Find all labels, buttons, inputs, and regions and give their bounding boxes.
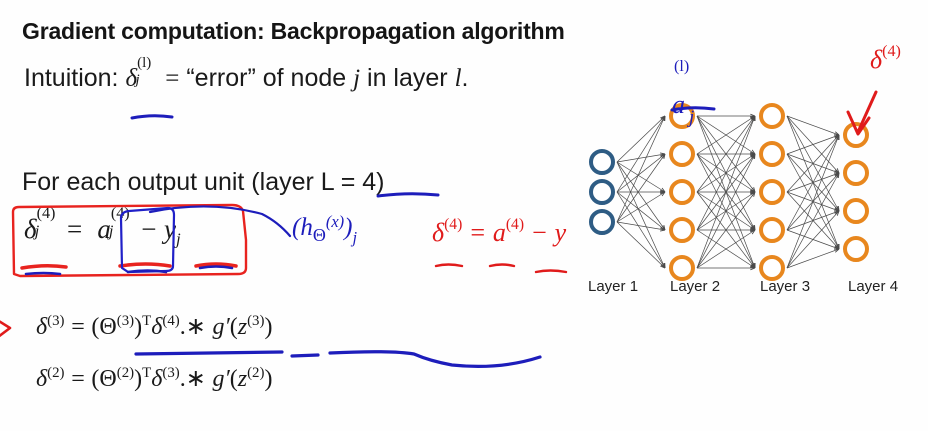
boxed-minus: − (141, 214, 156, 244)
blue-underline-gprime (330, 352, 540, 367)
equation-delta-3: δ(3) = (Θ(3))Tδ(4).∗ g′(z(3)) (36, 312, 272, 341)
delta2-equals: = (71, 366, 85, 392)
delta-superscript: (4) (37, 204, 56, 223)
delta2-lhs: δ(2) (36, 366, 65, 392)
red-underline-y (196, 264, 236, 266)
network-node-l3-n3 (759, 179, 785, 205)
equals-sign: = (469, 218, 487, 247)
network-node-l1-n2 (589, 179, 615, 205)
network-node-l2-n2 (669, 141, 695, 167)
delta-superscript: (2) (47, 365, 64, 381)
layer-label-2: Layer 2 (670, 278, 720, 295)
y-subscript: j (176, 229, 181, 248)
boxed-equation: δ (4) j = a (4) j − yj (24, 214, 181, 249)
delta-superscript: (4) (162, 313, 179, 329)
annotation-h-theta: (hΘ(x))j (292, 214, 357, 242)
red-underline-activation (120, 264, 170, 266)
delta-base: δ (36, 366, 47, 392)
transpose-symbol: T (142, 313, 151, 329)
z-open-paren: ( (230, 314, 238, 340)
delta-base: δ (151, 314, 162, 340)
theta-base: Θ (99, 366, 116, 392)
a-base: a (672, 90, 685, 119)
delta3-close-paren: ) (134, 314, 142, 340)
intuition-quoted-text: “error” of node (186, 64, 346, 92)
delta-base: δ (432, 218, 444, 247)
y-base: y (164, 214, 176, 244)
intuition-in-layer: in layer (367, 64, 448, 92)
delta-superscript: (l) (137, 55, 151, 72)
activation-subscript: j (109, 222, 114, 241)
annotation-a-j-l: (l)aj (672, 60, 690, 120)
layer-label-3: Layer 3 (760, 278, 810, 295)
network-node-l4-n2 (843, 160, 869, 186)
h-symbol: h (300, 214, 313, 241)
network-node-l3-n2 (759, 141, 785, 167)
network-edges (584, 108, 924, 298)
delta-superscript: (3) (47, 313, 64, 329)
network-node-l2-n3 (669, 179, 695, 205)
blue-underline-theta3 (136, 352, 282, 354)
minus-sign: − (531, 218, 549, 247)
z-base: z (238, 314, 247, 340)
page-title: Gradient computation: Backpropagation al… (22, 18, 565, 45)
network-node-l3-n4 (759, 217, 785, 243)
elementwise-operator: .∗ (180, 314, 206, 340)
a-superscript: (l) (674, 58, 689, 75)
z-superscript: (3) (247, 313, 264, 329)
delta3-equals: = (71, 314, 85, 340)
z-base: z (238, 366, 247, 392)
delta-subscript: j (135, 72, 139, 89)
blue-tick-delta (26, 273, 60, 274)
theta-symbol: Θ (313, 225, 326, 245)
intuition-prefix: Intuition: (24, 64, 119, 92)
intuition-node-var: j (353, 65, 360, 92)
delta-base: δ (36, 314, 47, 340)
red-underline-hand-a (490, 265, 514, 267)
g-prime: g′ (213, 314, 230, 340)
boxed-activation-term: a (4) j (97, 214, 111, 245)
boxed-equals: = (67, 214, 82, 244)
z-open-paren: ( (230, 366, 238, 392)
z-superscript: (2) (247, 365, 264, 381)
blue-underline-intuition-delta (132, 116, 172, 118)
boxed-target-y: yj (164, 214, 181, 244)
theta-superscript: (2) (117, 365, 134, 381)
intuition-delta-symbol: δ (l) j (125, 64, 137, 93)
blue-underline-L4 (378, 194, 438, 196)
red-underline-hand-delta (436, 265, 462, 267)
red-underline-delta (22, 266, 66, 268)
layer-label-row: Layer 1Layer 2Layer 3Layer 4 (584, 278, 928, 302)
intuition-layer-var: l (455, 65, 462, 92)
boxed-lhs-delta: δ (4) j (24, 214, 37, 245)
network-node-l1-n1 (589, 149, 615, 175)
theta-base: Θ (99, 314, 116, 340)
network-node-l4-n1 (843, 122, 869, 148)
blue-tick-activation (128, 271, 166, 273)
network-node-l4-n3 (843, 198, 869, 224)
z-close-paren: ) (264, 314, 272, 340)
intuition-period: . (462, 64, 469, 92)
blue-tick-y (200, 267, 232, 269)
g-prime: g′ (213, 366, 230, 392)
intuition-equals: = (165, 65, 179, 92)
annotation-delta-4: δ(4) (870, 45, 901, 75)
transpose-symbol: T (142, 365, 151, 381)
delta2-close-paren: ) (134, 366, 142, 392)
delta-superscript: (3) (162, 365, 179, 381)
for-each-output-unit-line: For each output unit (layer L = 4) (22, 168, 384, 197)
y-symbol: y (555, 218, 567, 247)
delta2-rhs-delta: δ(3) (151, 366, 180, 392)
network-node-l2-n4 (669, 217, 695, 243)
equation-delta-2: δ(2) = (Θ(2))Tδ(3).∗ g′(z(2)) (36, 364, 272, 393)
delta3-rhs-delta: δ(4) (151, 314, 180, 340)
theta-superscript: (3) (117, 313, 134, 329)
x-argument: (x) (326, 212, 344, 231)
layer-label-4: Layer 4 (848, 278, 898, 295)
delta-subscript: j (35, 222, 40, 241)
annotation-red-delta-equation: δ(4) = a(4) − y (432, 218, 566, 248)
delta-superscript: (4) (882, 43, 901, 60)
delta-base: δ (151, 366, 162, 392)
slide-canvas: Gradient computation: Backpropagation al… (0, 0, 928, 431)
a-superscript: (4) (506, 216, 524, 233)
layer-label-1: Layer 1 (588, 278, 638, 295)
red-left-arrow (0, 318, 10, 340)
a-base: a (493, 218, 506, 247)
neural-network-diagram (584, 108, 924, 298)
delta-base: δ (870, 45, 882, 74)
delta3-lhs: δ(3) (36, 314, 65, 340)
red-underline-hand-y (536, 271, 566, 273)
delta-superscript: (4) (444, 216, 462, 233)
activation-superscript: (4) (111, 204, 130, 223)
network-node-l4-n4 (843, 236, 869, 262)
elementwise-operator: .∗ (180, 366, 206, 392)
h-subscript: j (352, 228, 357, 247)
blue-underline-op (292, 355, 318, 356)
z-close-paren: ) (264, 366, 272, 392)
intuition-line: Intuition: δ (l) j = “error” of node j i… (24, 64, 468, 93)
network-node-l1-n3 (589, 209, 615, 235)
a-subscript: j (689, 107, 694, 128)
network-node-l3-n1 (759, 103, 785, 129)
